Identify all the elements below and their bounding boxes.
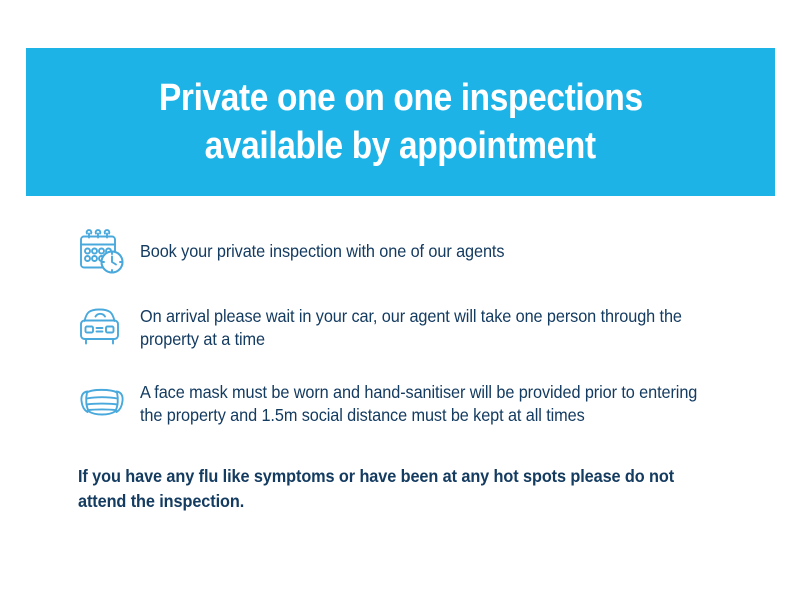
calendar-clock-icon: [78, 228, 140, 278]
car-front-icon: [78, 302, 140, 352]
instruction-list: Book your private inspection with one of…: [78, 228, 758, 428]
headline-line-1: Private one on one inspections: [159, 74, 643, 122]
list-item-label: A face mask must be worn and hand-saniti…: [140, 378, 715, 427]
face-mask-icon: [78, 378, 140, 428]
list-item: On arrival please wait in your car, our …: [78, 302, 758, 352]
list-item-label: On arrival please wait in your car, our …: [140, 302, 715, 351]
list-item-label: Book your private inspection with one of…: [140, 228, 715, 263]
list-item: Book your private inspection with one of…: [78, 228, 758, 278]
warning-note: If you have any flu like symptoms or hav…: [78, 464, 710, 514]
headline-line-2: available by appointment: [205, 122, 596, 170]
headline-banner: Private one on one inspections available…: [26, 48, 775, 196]
list-item: A face mask must be worn and hand-saniti…: [78, 378, 758, 428]
